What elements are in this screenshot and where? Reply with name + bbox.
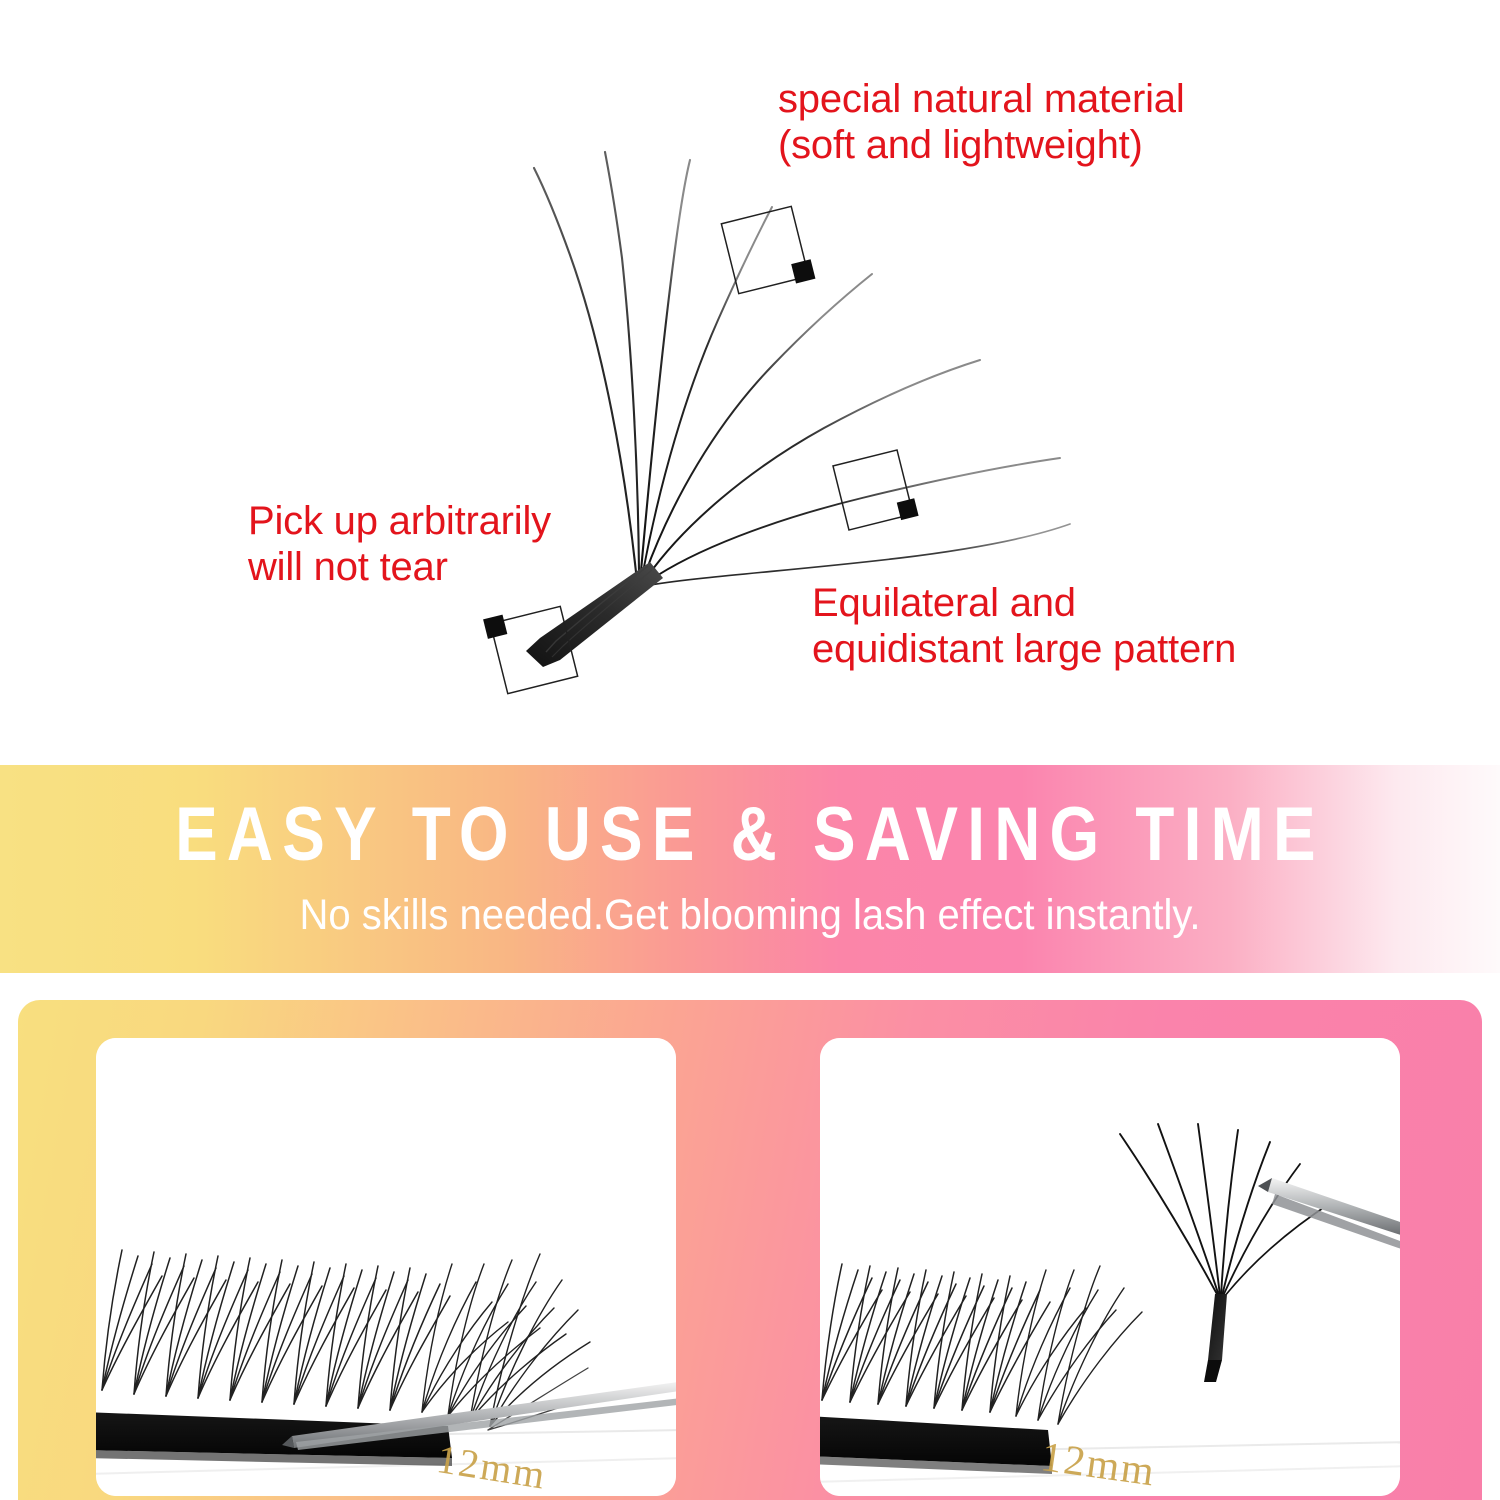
callout-special-natural-material: special natural material (soft and light… bbox=[778, 76, 1185, 169]
callout-equilateral-equidistant: Equilateral and equidistant large patter… bbox=[812, 580, 1236, 673]
lash-tray-with-tweezers-photo: 12mm bbox=[96, 1038, 676, 1496]
square-marker bbox=[833, 449, 919, 533]
single-fan-pickup-photo: 12mm bbox=[820, 1038, 1400, 1496]
lash-filaments bbox=[534, 152, 1070, 585]
lash-fan-diagram bbox=[0, 0, 1500, 765]
photo-gallery-panel: 12mm bbox=[18, 1000, 1482, 1500]
headline-banner: EASY TO USE & SAVING TIME No skills need… bbox=[0, 765, 1500, 973]
hero-diagram-section: special natural material (soft and light… bbox=[0, 0, 1500, 765]
callout-pick-up-arbitrarily: Pick up arbitrarily will not tear bbox=[248, 498, 551, 591]
photo-card-single-fan-pickup[interactable]: 12mm bbox=[820, 1038, 1400, 1496]
photo-card-lash-tray[interactable]: 12mm bbox=[96, 1038, 676, 1496]
banner-subtitle: No skills needed.Get blooming lash effec… bbox=[53, 891, 1448, 940]
banner-title: EASY TO USE & SAVING TIME bbox=[120, 791, 1380, 878]
